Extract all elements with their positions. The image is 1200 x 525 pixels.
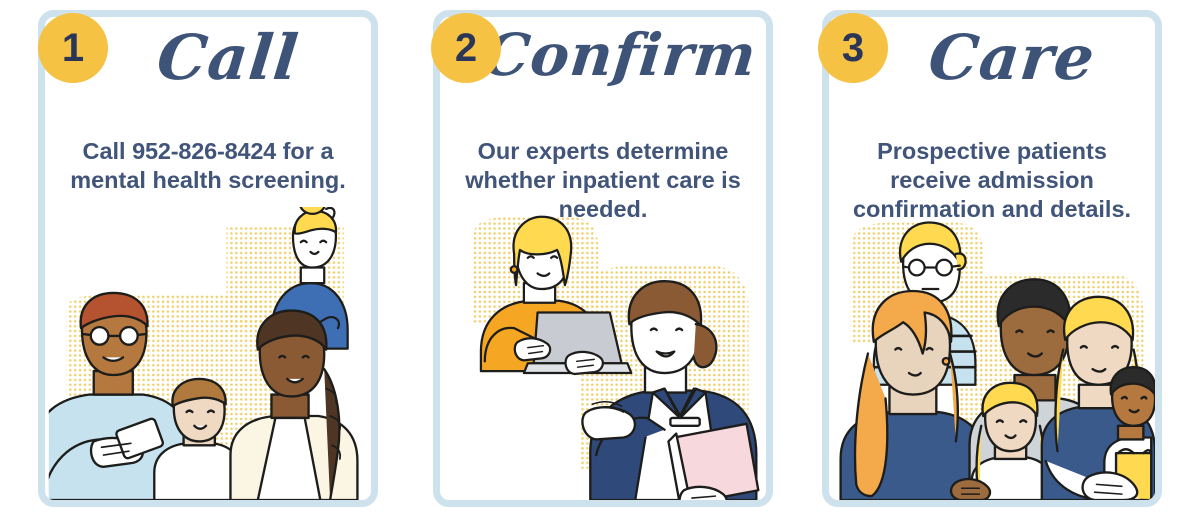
three-step-infographic: Call Call 952-826-8424 for a mental heal…: [0, 0, 1200, 525]
step-1-body-prefix: Call: [82, 138, 132, 164]
step-badge-1: 1: [38, 13, 108, 83]
step-card-3: Care Prospective patients receive admiss…: [822, 10, 1162, 507]
step-1-illustration: [45, 207, 371, 500]
step-1-body-text: Call 952-826-8424 for a mental health sc…: [61, 137, 355, 195]
step-badge-3: 3: [818, 13, 888, 83]
step-card-2: Confirm Our experts determine whether in…: [433, 10, 773, 507]
step-3-illustration: [829, 207, 1155, 500]
step-card-1: Call Call 952-826-8424 for a mental heal…: [38, 10, 378, 507]
step-badge-2: 2: [431, 13, 501, 83]
step-1-phone-number: 952-826-8424: [132, 138, 276, 164]
step-2-illustration: [440, 207, 766, 500]
